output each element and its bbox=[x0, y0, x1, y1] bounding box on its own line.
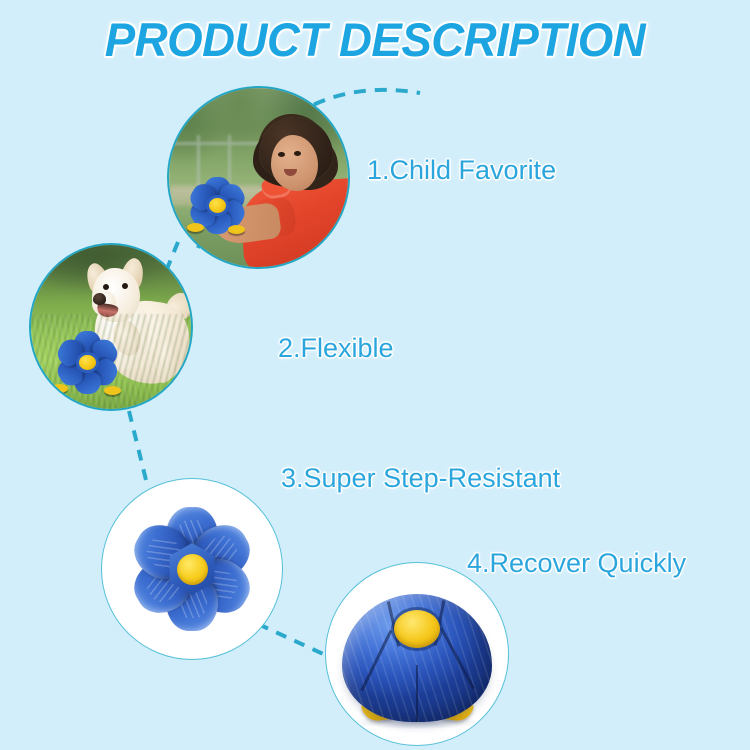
feature-label-1: 1.Child Favorite bbox=[367, 154, 556, 186]
product-ball-dome-form bbox=[325, 562, 509, 746]
connector-circle-2-to-circle-3 bbox=[129, 411, 146, 480]
connector-circle-3-to-circle-4 bbox=[258, 624, 332, 658]
disc-toy-on-grass bbox=[47, 327, 127, 397]
infographic-canvas: PRODUCT DESCRIPTION bbox=[0, 0, 750, 750]
disc-center-yellow bbox=[177, 554, 208, 585]
boy-eye-left bbox=[278, 152, 285, 157]
feature-label-3: 3.Super Step-Resistant bbox=[281, 462, 560, 494]
ball-graphic bbox=[342, 594, 492, 722]
photo-dog-running-with-disc-ball bbox=[29, 243, 193, 411]
boy-eye-right bbox=[294, 151, 301, 156]
feature-label-4: 4.Recover Quickly bbox=[467, 547, 686, 579]
page-title: PRODUCT DESCRIPTION bbox=[11, 14, 739, 66]
grass-scene bbox=[31, 245, 191, 409]
park-scene bbox=[169, 88, 348, 267]
product-disc-flat-form bbox=[101, 478, 283, 660]
disc-toy-in-hand bbox=[185, 176, 249, 234]
photo-child-throwing-disc-ball bbox=[167, 86, 350, 269]
ball-top-yellow-disc bbox=[394, 610, 440, 648]
dog-eye-right bbox=[122, 283, 128, 289]
dog-nose bbox=[93, 293, 106, 304]
flat-disc-graphic bbox=[119, 496, 265, 642]
boy-mouth bbox=[284, 169, 297, 176]
feature-label-2: 2.Flexible bbox=[278, 332, 394, 364]
